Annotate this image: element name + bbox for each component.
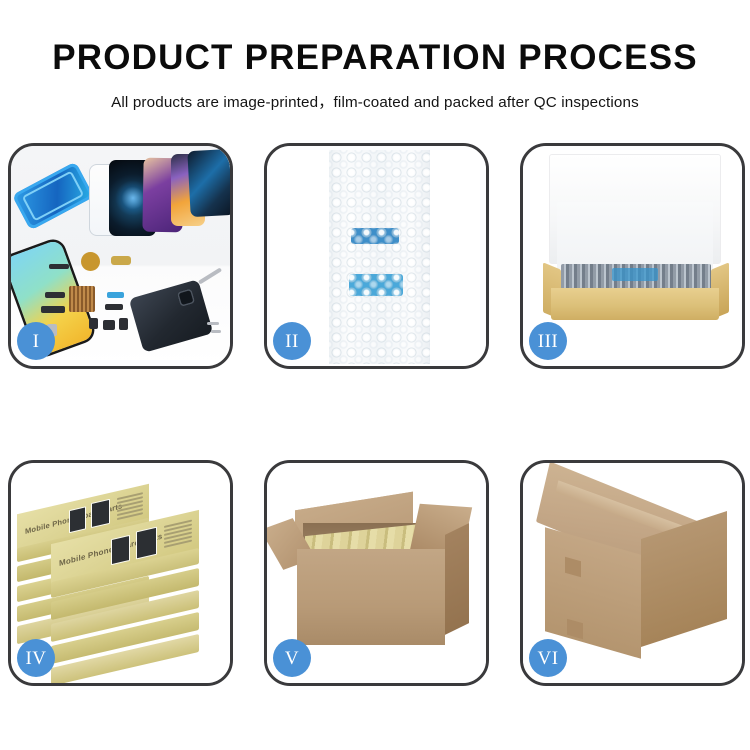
page-header: PRODUCT PREPARATION PROCESS All products… <box>0 0 750 112</box>
product-preparation-page: PRODUCT PREPARATION PROCESS All products… <box>0 0 750 750</box>
step-badge-iii: III <box>529 322 567 360</box>
component-tweezers <box>198 267 222 284</box>
component-battery-tab <box>119 318 128 330</box>
process-step-panel-i: I <box>8 143 233 369</box>
component-connector <box>45 292 65 298</box>
carton-side-face <box>445 523 469 635</box>
step-badge-iv: IV <box>17 639 55 677</box>
component-screw <box>211 330 221 333</box>
phone-back-cover-image <box>129 279 214 353</box>
process-step-panel-iii: III <box>520 143 745 369</box>
component-flex-cable <box>111 256 131 265</box>
component-bracket <box>41 306 65 313</box>
component-blue-tab <box>107 292 124 298</box>
process-step-panel-v: V <box>264 460 489 686</box>
component-ic-chip <box>69 286 95 312</box>
bubble-texture-offset <box>329 150 430 364</box>
carton-front-face <box>297 549 445 645</box>
page-subtitle: All products are image-printed，film-coat… <box>0 90 750 112</box>
dark-phone-image <box>187 149 230 217</box>
box-screen-graphic <box>111 535 130 565</box>
component-button <box>89 318 98 329</box>
step-badge-vi: VI <box>529 639 567 677</box>
component-small-cable <box>105 304 123 310</box>
component-screw <box>207 322 219 325</box>
box-screen-graphic <box>91 499 110 528</box>
box-screen-graphic <box>136 527 157 560</box>
step-badge-v: V <box>273 639 311 677</box>
step-badge-ii: II <box>273 322 311 360</box>
process-step-panel-vi: VI <box>520 460 745 686</box>
box-screen-graphic <box>69 506 86 533</box>
box-back-wall <box>557 202 713 272</box>
page-title: PRODUCT PREPARATION PROCESS <box>0 40 750 75</box>
process-step-grid: I II <box>8 143 742 686</box>
process-step-panel-iv: Mobile Phone Spare Parts Mobile Phone Sp… <box>8 460 233 686</box>
component-camera <box>103 320 115 330</box>
box-front-wall <box>551 288 719 320</box>
step-badge-i: I <box>17 322 55 360</box>
process-step-panel-ii: II <box>264 143 489 369</box>
bubble-wrap-bag <box>329 150 430 364</box>
adhesive-frame-image <box>12 161 94 230</box>
component-bar <box>49 264 69 269</box>
component-speaker <box>81 252 100 271</box>
